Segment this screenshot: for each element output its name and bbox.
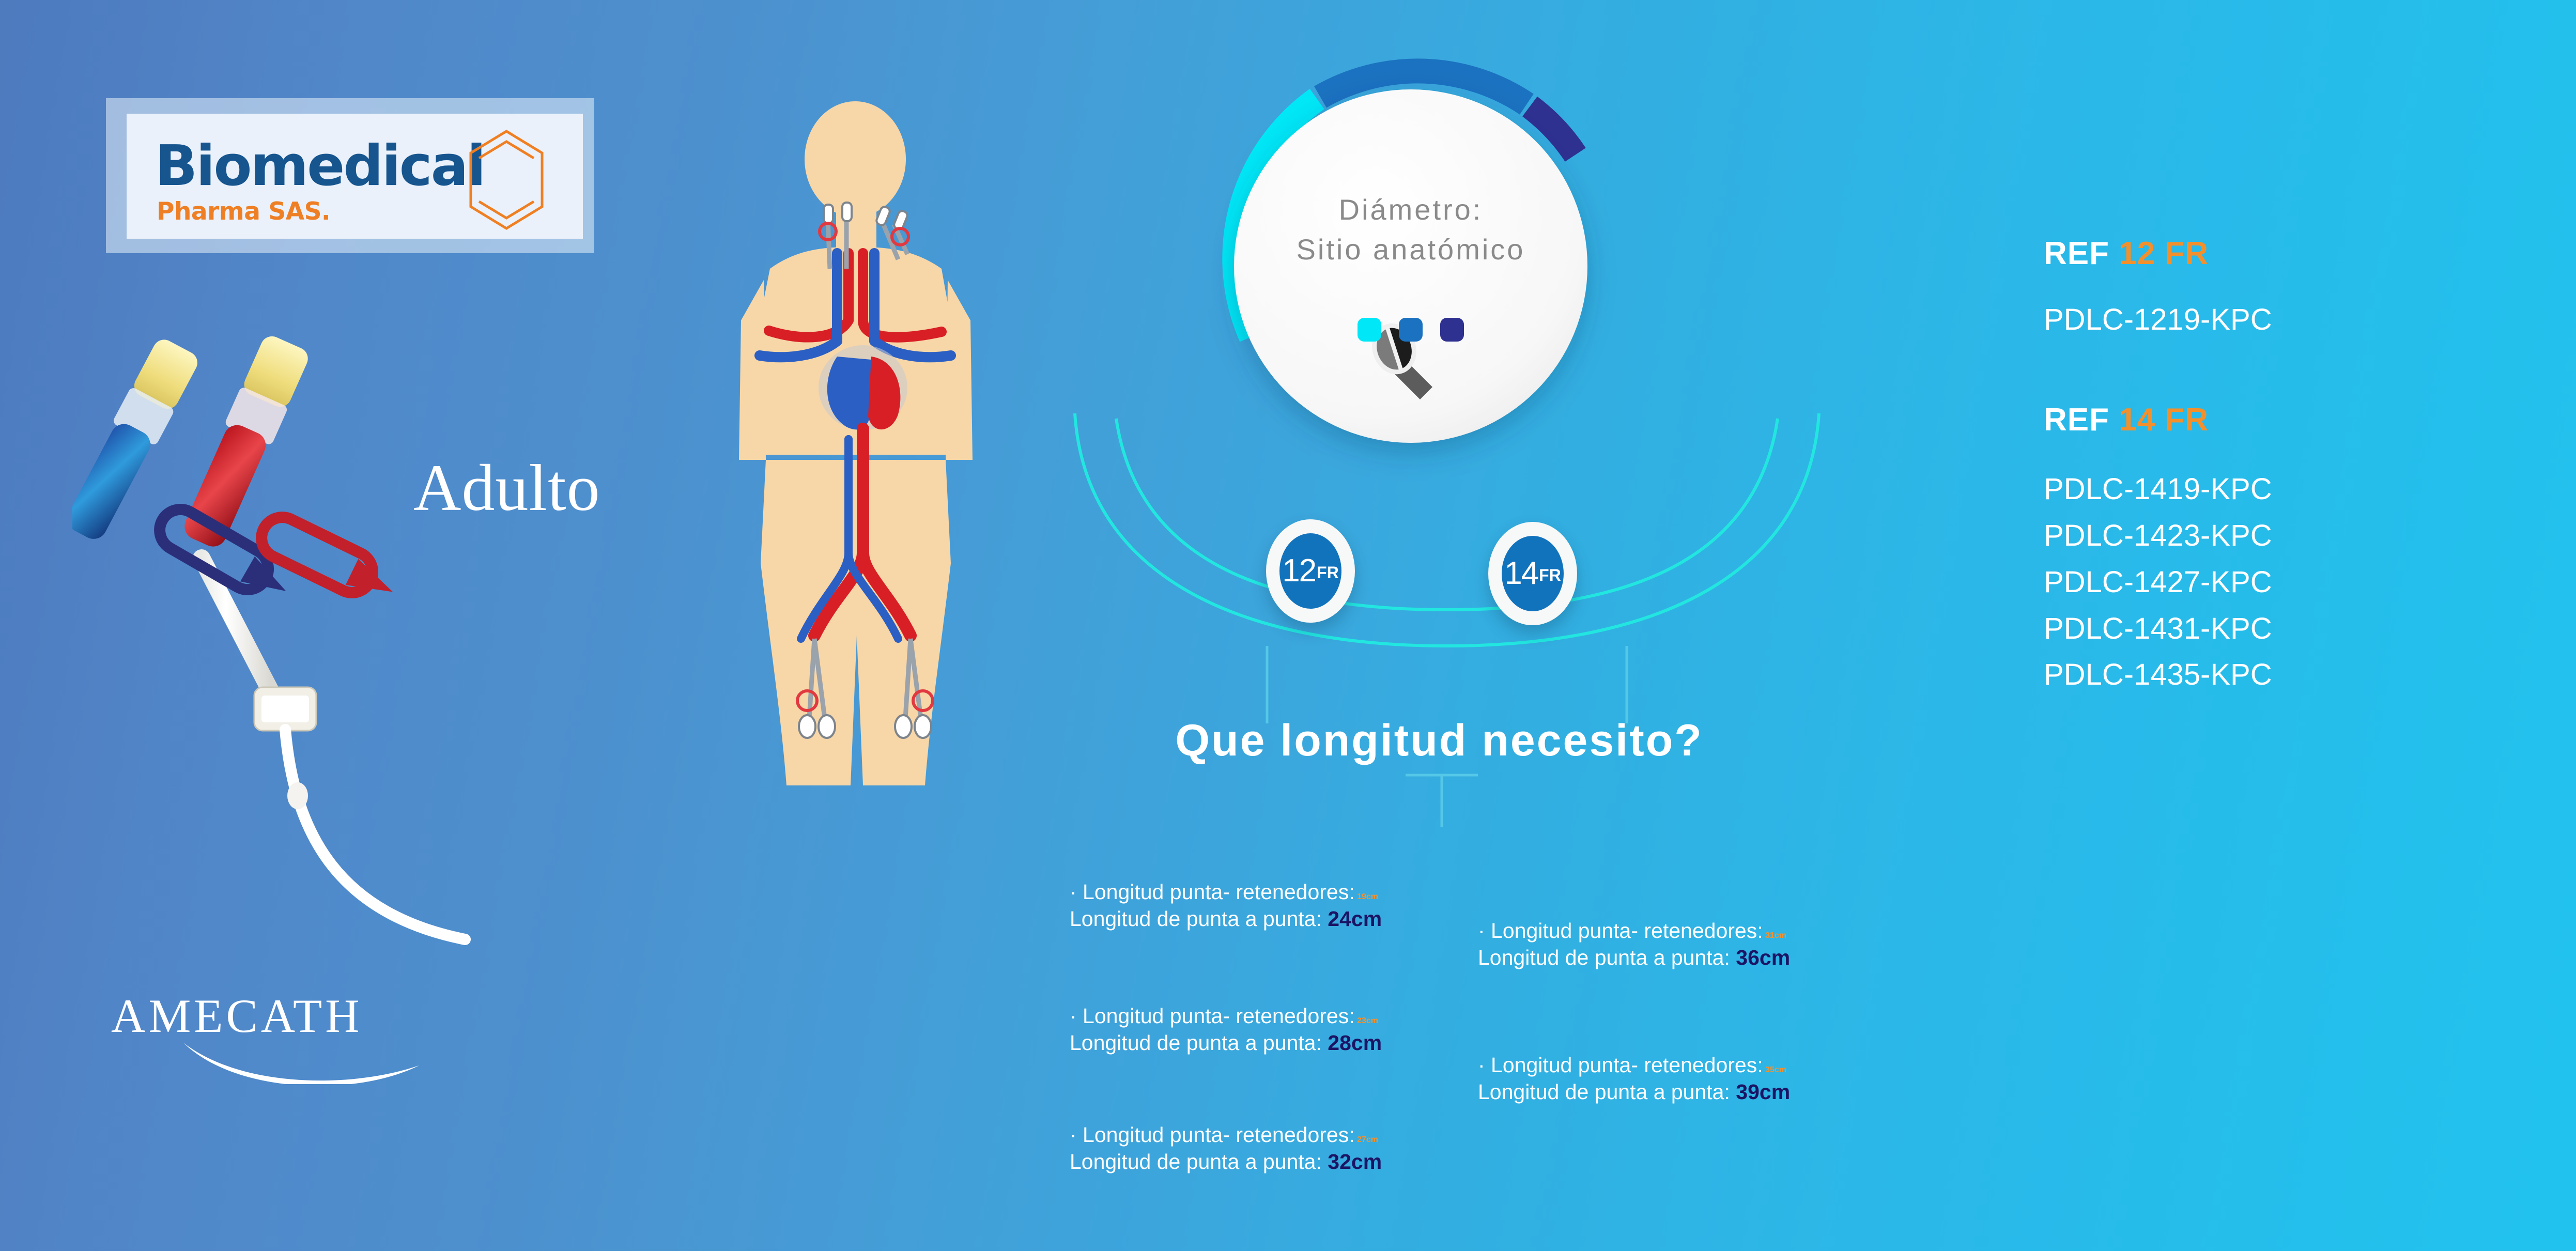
total-length-label: Longitud de punta a punta:: [1070, 907, 1322, 931]
gauge-legend-dots: [1189, 318, 1633, 342]
size-badge-inner: 14FR: [1502, 536, 1564, 611]
total-length-value: 24cm: [1328, 907, 1382, 931]
ref-size: 12 FR: [2119, 236, 2209, 271]
gauge-title-line2: Sitio anatómico: [1189, 229, 1633, 269]
total-length-value: 39cm: [1736, 1080, 1790, 1104]
total-length-line: Longitud de punta a punta: 24cm: [1070, 905, 1384, 932]
reference-column: REF 12 FR PDLC-1219-KPC REF 14 FR PDLC-1…: [2044, 238, 2457, 698]
total-length-label: Longitud de punta a punta:: [1070, 1031, 1322, 1055]
amecath-wordmark: AMECATH: [111, 992, 431, 1040]
ref-heading-14: REF 14 FR: [2044, 404, 2457, 436]
gauge-title-line1: Diámetro:: [1189, 190, 1633, 229]
legend-dot-navy: [1440, 318, 1464, 342]
tip-retainer-label: · Longitud punta- retenedores:: [1070, 880, 1355, 904]
legend-dot-blue: [1399, 318, 1423, 342]
tip-retainer-value: 23cm: [1357, 1016, 1378, 1025]
total-length-label: Longitud de punta a punta:: [1478, 1080, 1730, 1104]
tip-retainer-label: · Longitud punta- retenedores:: [1478, 1053, 1763, 1077]
product-code[interactable]: PDLC-1219-KPC: [2044, 297, 2457, 343]
tip-retainer-label: · Longitud punta- retenedores:: [1478, 919, 1763, 943]
tip-retainer-label: · Longitud punta- retenedores:: [1070, 1004, 1355, 1028]
total-length-label: Longitud de punta a punta:: [1070, 1150, 1322, 1173]
product-code[interactable]: PDLC-1431-KPC: [2044, 606, 2457, 652]
tip-retainer-value: 35cm: [1765, 1065, 1786, 1074]
ref-prefix: REF: [2044, 402, 2109, 438]
total-length-line: Longitud de punta a punta: 32cm: [1070, 1148, 1384, 1175]
badge-number: 14: [1504, 558, 1538, 590]
badge-unit: FR: [1539, 567, 1561, 583]
total-length-line: Longitud de punta a punta: 36cm: [1478, 944, 1792, 971]
total-length-value: 28cm: [1328, 1031, 1382, 1055]
ref-size: 14 FR: [2119, 402, 2209, 438]
measurement-block: · Longitud punta- retenedores: 19cm Long…: [1070, 878, 1384, 933]
decorative-swoosh: [1065, 403, 1829, 723]
tip-retainer-value: 31cm: [1765, 931, 1786, 940]
biomedical-logo-card: Biomedical Pharma SAS.: [106, 98, 594, 253]
size-badge-inner: 12FR: [1279, 533, 1341, 609]
reference-block-14fr: REF 14 FR PDLC-1419-KPC PDLC-1423-KPC PD…: [2044, 404, 2457, 698]
measurement-block: · Longitud punta- retenedores: 23cm Long…: [1070, 1002, 1384, 1057]
product-code[interactable]: PDLC-1423-KPC: [2044, 513, 2457, 559]
tip-retainer-value: 19cm: [1357, 892, 1378, 901]
badge-number: 12: [1282, 555, 1316, 587]
tip-retainer-value: 27cm: [1357, 1135, 1378, 1144]
product-code[interactable]: PDLC-1419-KPC: [2044, 466, 2457, 513]
total-length-line: Longitud de punta a punta: 39cm: [1478, 1078, 1792, 1105]
size-badge-12fr[interactable]: 12FR: [1266, 519, 1355, 623]
human-torso-vascular-diagram: [708, 98, 997, 811]
hexagon-icon: [468, 128, 545, 231]
badge-unit: FR: [1317, 564, 1339, 581]
total-length-value: 32cm: [1328, 1150, 1382, 1173]
ref-prefix: REF: [2044, 236, 2109, 271]
audience-label: Adulto: [413, 455, 600, 521]
measurement-block: · Longitud punta- retenedores: 27cm Long…: [1070, 1121, 1384, 1176]
question-connector: [1395, 770, 1488, 832]
total-length-value: 36cm: [1736, 946, 1790, 969]
pharma-sas-subtitle: Pharma SAS.: [157, 199, 330, 224]
amecath-logo: AMECATH: [111, 992, 431, 1085]
measurement-block: · Longitud punta- retenedores: 35cm Long…: [1478, 1052, 1792, 1106]
total-length-label: Longitud de punta a punta:: [1478, 946, 1730, 969]
gauge-title: Diámetro: Sitio anatómico: [1189, 190, 1633, 270]
amecath-swoosh-icon: [111, 1040, 421, 1084]
dual-lumen-catheter-photo: [72, 331, 517, 1002]
legend-dot-cyan: [1358, 318, 1381, 342]
ref-heading-12: REF 12 FR: [2044, 238, 2457, 270]
biomedical-wordmark: Biomedical: [155, 138, 485, 194]
measurement-block: · Longitud punta- retenedores: 31cm Long…: [1478, 917, 1792, 971]
tip-retainer-label: · Longitud punta- retenedores:: [1070, 1123, 1355, 1147]
product-code[interactable]: PDLC-1435-KPC: [2044, 652, 2457, 698]
total-length-line: Longitud de punta a punta: 28cm: [1070, 1029, 1384, 1056]
product-code[interactable]: PDLC-1427-KPC: [2044, 559, 2457, 606]
size-badge-14fr[interactable]: 14FR: [1488, 522, 1577, 625]
question-heading: Que longitud necesito?: [1121, 718, 1757, 763]
infographic-canvas: Biomedical Pharma SAS.: [0, 0, 2576, 1251]
reference-block-12fr: REF 12 FR PDLC-1219-KPC: [2044, 238, 2457, 343]
